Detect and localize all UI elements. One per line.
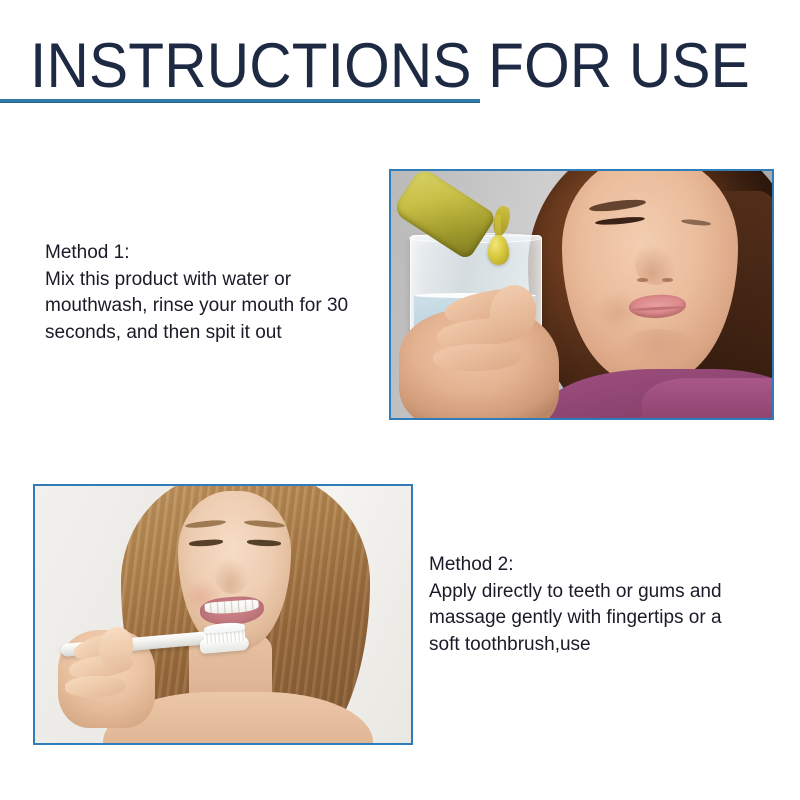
title-underline-rule <box>0 99 480 103</box>
method-2-text-block: Method 2: Apply directly to teeth or gum… <box>429 552 779 658</box>
method-2-photo-toothbrush <box>33 484 413 745</box>
method-2-line-1: Apply directly to teeth or gums and <box>429 579 779 606</box>
method-2-heading: Method 2: <box>429 552 779 579</box>
method-1-line-2: mouthwash, rinse your mouth for 30 <box>45 293 375 320</box>
nose-shape <box>215 558 249 594</box>
method-2-line-2: massage gently with fingertips or a <box>429 605 779 632</box>
method-2-line-3: soft toothbrush,use <box>429 632 779 659</box>
oil-droplet-shape <box>488 235 509 265</box>
method-1-heading: Method 1: <box>45 240 375 267</box>
method-1-photo-rinsing <box>389 169 774 420</box>
instructions-page: INSTRUCTIONS FOR USE Method 1: Mix this … <box>0 0 800 800</box>
page-title: INSTRUCTIONS FOR USE <box>30 34 750 98</box>
teeth-separations-shape <box>205 599 259 615</box>
method-1-line-1: Mix this product with water or <box>45 267 375 294</box>
method-1-line-3: seconds, and then spit it out <box>45 320 375 347</box>
photo-toothbrush-content <box>35 486 411 743</box>
page-header: INSTRUCTIONS FOR USE <box>0 0 800 110</box>
shirt-shoulder-shape <box>642 378 772 418</box>
chin-shadow-shape <box>620 329 696 369</box>
method-1-text-block: Method 1: Mix this product with water or… <box>45 240 375 346</box>
photo-rinsing-content <box>391 171 772 418</box>
